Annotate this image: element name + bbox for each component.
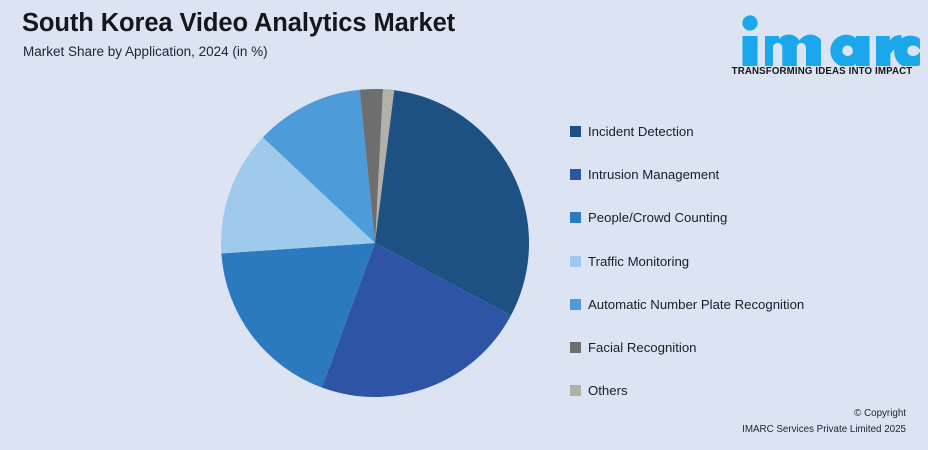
page-title: South Korea Video Analytics Market — [22, 9, 455, 38]
legend-item[interactable]: Traffic Monitoring — [570, 240, 920, 283]
legend-color-swatch — [570, 212, 581, 223]
copyright-entity: IMARC Services Private Limited 2025 — [742, 422, 906, 438]
legend-color-swatch — [570, 299, 581, 310]
legend-item[interactable]: People/Crowd Counting — [570, 196, 920, 239]
imarc-logo: TRANSFORMING IDEAS INTO IMPACT — [724, 8, 920, 84]
chart-legend: Incident DetectionIntrusion ManagementPe… — [570, 110, 920, 412]
legend-item-label: Traffic Monitoring — [588, 255, 689, 268]
legend-color-swatch — [570, 169, 581, 180]
imarc-wordmark-icon — [724, 14, 920, 66]
legend-item[interactable]: Intrusion Management — [570, 153, 920, 196]
page-subtitle: Market Share by Application, 2024 (in %) — [23, 44, 268, 59]
legend-item[interactable]: Incident Detection — [570, 110, 920, 153]
copyright-line: © Copyright — [742, 406, 906, 422]
legend-item[interactable]: Automatic Number Plate Recognition — [570, 283, 920, 326]
legend-color-swatch — [570, 256, 581, 267]
legend-item-label: Intrusion Management — [588, 168, 719, 181]
legend-color-swatch — [570, 126, 581, 137]
legend-item-label: Facial Recognition — [588, 341, 697, 354]
pie-slices-group — [221, 89, 529, 397]
legend-item-label: Incident Detection — [588, 125, 694, 138]
pie-chart-svg — [221, 89, 529, 397]
pie-chart — [221, 89, 529, 397]
legend-item-label: Automatic Number Plate Recognition — [588, 298, 804, 311]
legend-item-label: People/Crowd Counting — [588, 211, 727, 224]
legend-item-label: Others — [588, 384, 628, 397]
chart-canvas: South Korea Video Analytics Market Marke… — [0, 0, 928, 450]
legend-item[interactable]: Facial Recognition — [570, 326, 920, 369]
imarc-tagline: TRANSFORMING IDEAS INTO IMPACT — [724, 66, 920, 77]
copyright-footer: © Copyright IMARC Services Private Limit… — [742, 406, 906, 438]
legend-color-swatch — [570, 385, 581, 396]
legend-color-swatch — [570, 342, 581, 353]
